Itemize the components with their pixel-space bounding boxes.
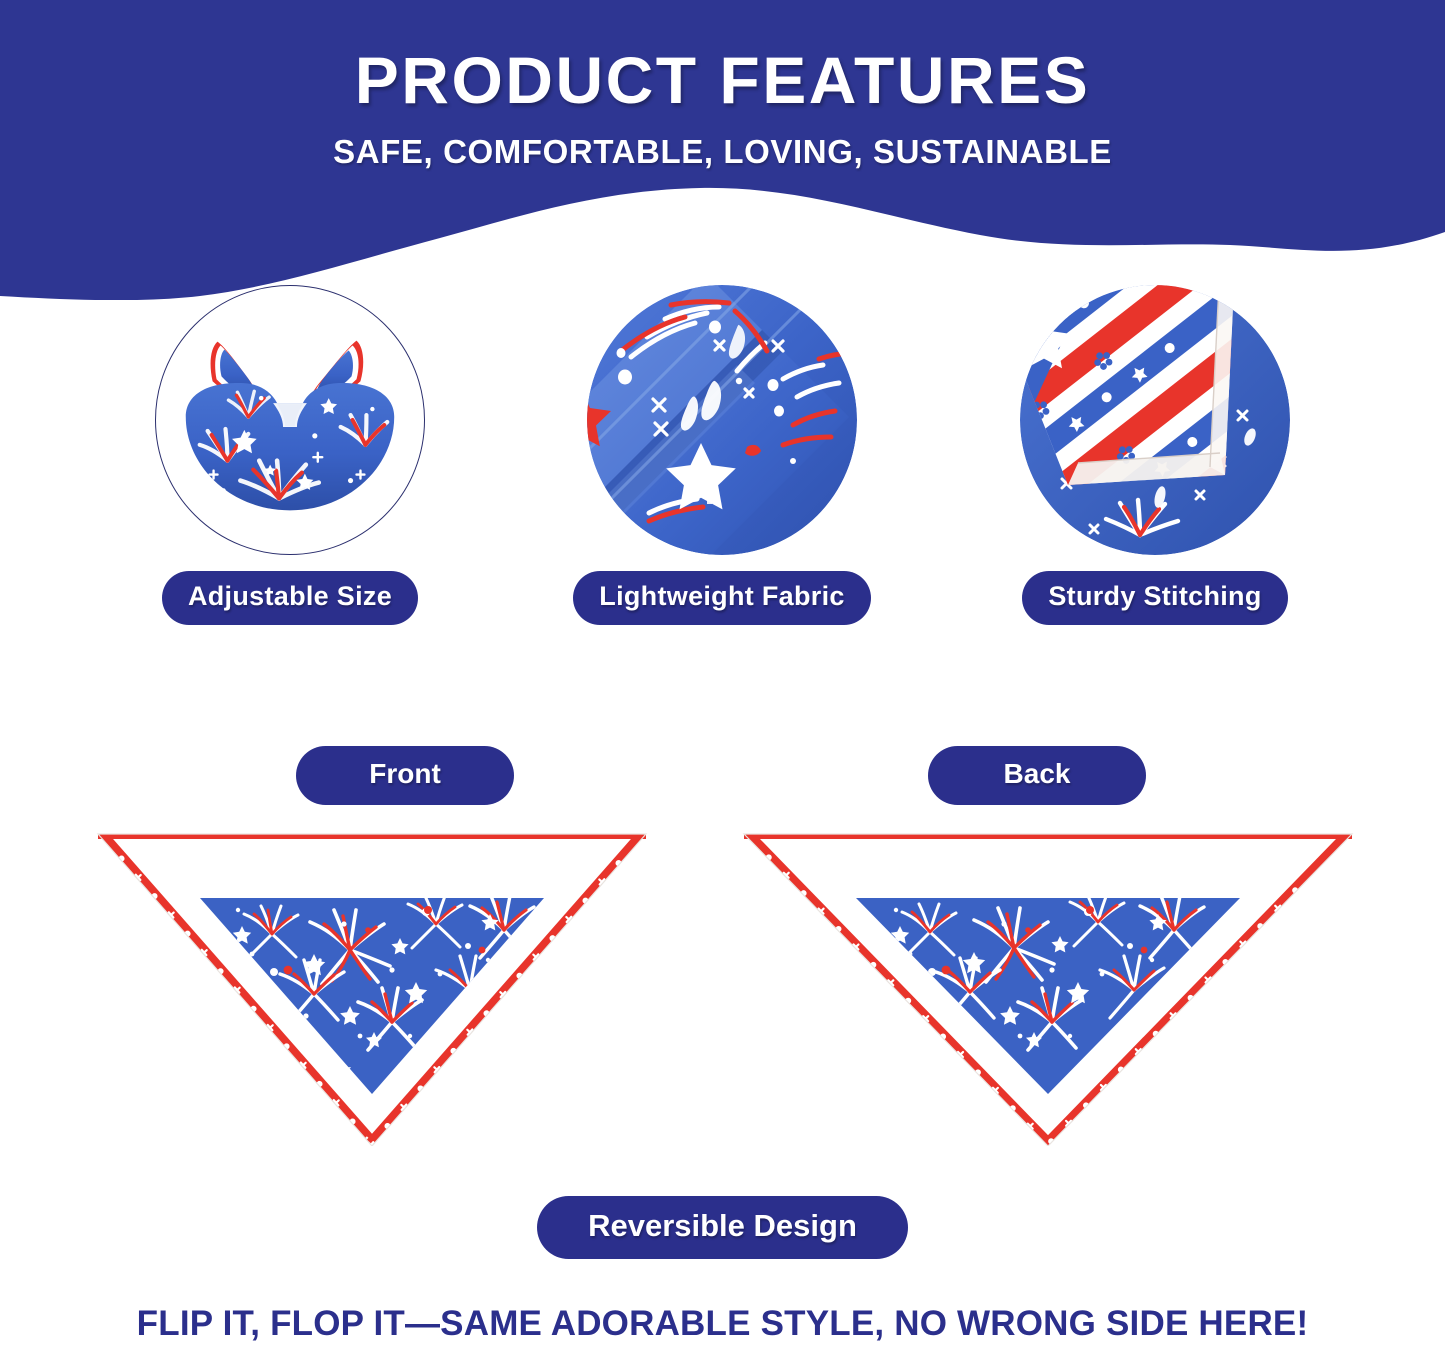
header-wave-shape bbox=[0, 0, 1445, 300]
reversible-design-badge: Reversible Design bbox=[537, 1196, 908, 1259]
footer-tagline: FLIP IT, FLOP IT—SAME ADORABLE STYLE, NO… bbox=[0, 1304, 1445, 1344]
feature-image-adjustable-size bbox=[155, 285, 425, 555]
bandana-back-image bbox=[738, 826, 1358, 1146]
feature-item-lightweight-fabric: Lightweight Fabric bbox=[557, 285, 887, 625]
header-banner: PRODUCT FEATURES SAFE, COMFORTABLE, LOVI… bbox=[0, 0, 1445, 300]
feature-item-sturdy-stitching: Sturdy Stitching bbox=[990, 285, 1320, 625]
feature-image-lightweight-fabric bbox=[587, 285, 857, 555]
feature-label-adjustable-size: Adjustable Size bbox=[162, 571, 418, 625]
feature-image-sturdy-stitching bbox=[1020, 285, 1290, 555]
back-label-badge: Back bbox=[928, 746, 1146, 805]
bandana-front-image bbox=[92, 826, 652, 1146]
front-label-badge: Front bbox=[296, 746, 514, 805]
product-features-infographic: PRODUCT FEATURES SAFE, COMFORTABLE, LOVI… bbox=[0, 0, 1445, 1365]
feature-item-adjustable-size: Adjustable Size bbox=[125, 285, 455, 625]
feature-label-sturdy-stitching: Sturdy Stitching bbox=[1022, 571, 1287, 625]
feature-label-lightweight-fabric: Lightweight Fabric bbox=[573, 571, 870, 625]
feature-list: Adjustable Size bbox=[0, 285, 1445, 640]
